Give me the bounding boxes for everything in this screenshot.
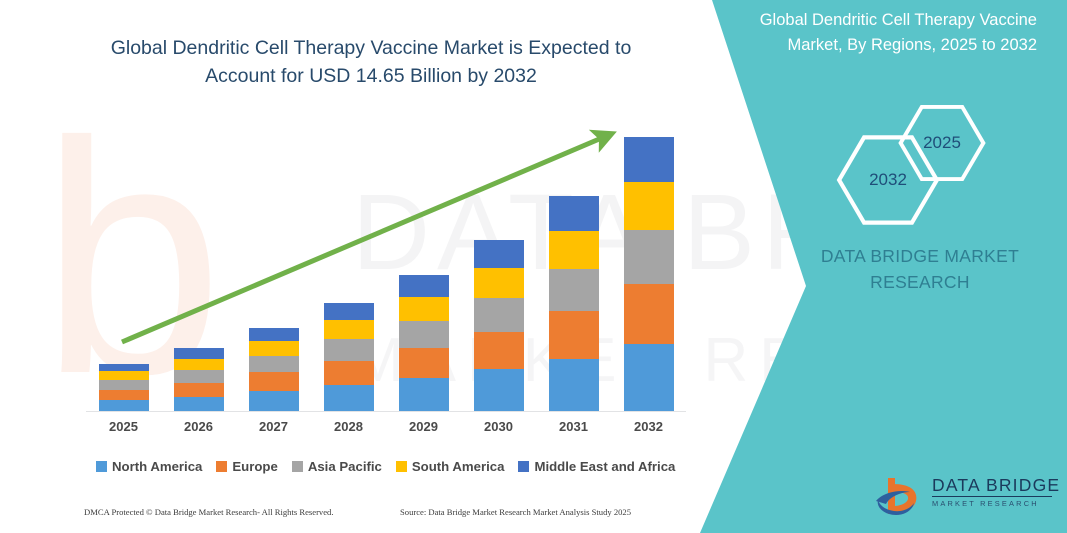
legend-label: North America (112, 459, 202, 474)
bar-segment-2028-north-america (324, 385, 374, 412)
bar-segment-2030-north-america (474, 369, 524, 412)
legend-swatch-icon (518, 461, 529, 472)
bar-segment-2028-south-america (324, 320, 374, 339)
x-axis-label-2030: 2030 (469, 419, 529, 434)
x-axis-label-2028: 2028 (319, 419, 379, 434)
bar-segment-2032-middle-east-and-africa (624, 137, 674, 182)
bar-group (86, 120, 686, 412)
bar-segment-2026-north-america (174, 397, 224, 412)
legend-item-middle-east-and-africa[interactable]: Middle East and Africa (518, 459, 675, 474)
bar-2025 (99, 364, 149, 412)
bar-segment-2027-middle-east-and-africa (249, 328, 299, 342)
bar-segment-2029-asia-pacific (399, 321, 449, 348)
bar-segment-2031-asia-pacific (549, 269, 599, 312)
legend-item-europe[interactable]: Europe (216, 459, 277, 474)
bar-segment-2029-middle-east-and-africa (399, 275, 449, 297)
bar-2031 (549, 196, 599, 412)
x-axis-label-2025: 2025 (94, 419, 154, 434)
x-axis-label-2029: 2029 (394, 419, 454, 434)
dbmr-logo-sub: MARKET RESEARCH (932, 499, 1052, 508)
bar-segment-2025-asia-pacific (99, 380, 149, 390)
bar-segment-2027-north-america (249, 391, 299, 412)
bar-segment-2029-north-america (399, 378, 449, 412)
x-axis-label-2027: 2027 (244, 419, 304, 434)
bar-chart-plot-area (86, 120, 686, 412)
legend-label: Middle East and Africa (534, 459, 675, 474)
legend-label: Asia Pacific (308, 459, 382, 474)
chart-legend: North AmericaEuropeAsia PacificSouth Ame… (96, 456, 676, 476)
x-axis-label-2026: 2026 (169, 419, 229, 434)
legend-item-south-america[interactable]: South America (396, 459, 505, 474)
panel-title: Global Dendritic Cell Therapy Vaccine Ma… (737, 8, 1037, 58)
page-title: Global Dendritic Cell Therapy Vaccine Ma… (88, 34, 654, 90)
bar-segment-2029-south-america (399, 297, 449, 321)
legend-swatch-icon (216, 461, 227, 472)
bar-segment-2030-south-america (474, 268, 524, 298)
bar-segment-2028-middle-east-and-africa (324, 303, 374, 320)
legend-swatch-icon (96, 461, 107, 472)
footer-copyright: DMCA Protected © Data Bridge Market Rese… (84, 507, 334, 517)
bar-segment-2026-south-america (174, 359, 224, 371)
bar-segment-2032-north-america (624, 344, 674, 412)
bar-segment-2032-asia-pacific (624, 230, 674, 284)
bar-segment-2032-south-america (624, 182, 674, 230)
legend-label: Europe (232, 459, 277, 474)
bar-segment-2025-europe (99, 390, 149, 401)
legend-swatch-icon (292, 461, 303, 472)
bar-segment-2026-europe (174, 383, 224, 397)
dbmr-logo-wordmark: DATA BRIDGE MARKET RESEARCH (932, 476, 1052, 508)
bar-2032 (624, 137, 674, 412)
dbmr-logo-main: DATA BRIDGE (932, 476, 1052, 497)
panel-brand-text: DATA BRIDGE MARKET RESEARCH (790, 243, 1050, 295)
bar-segment-2030-asia-pacific (474, 298, 524, 332)
x-axis-labels: 20252026202720282029203020312032 (86, 419, 686, 441)
bar-segment-2029-europe (399, 348, 449, 378)
legend-item-asia-pacific[interactable]: Asia Pacific (292, 459, 382, 474)
hexagon-badge-group: 2032 2025 (820, 104, 1020, 214)
bar-segment-2026-middle-east-and-africa (174, 348, 224, 359)
x-axis-label-2031: 2031 (544, 419, 604, 434)
bar-segment-2026-asia-pacific (174, 370, 224, 383)
legend-label: South America (412, 459, 505, 474)
bar-segment-2030-europe (474, 332, 524, 370)
hexagon-badge-2025-label: 2025 (898, 104, 986, 182)
bar-segment-2027-asia-pacific (249, 356, 299, 372)
bar-segment-2028-asia-pacific (324, 339, 374, 360)
footer-source: Source: Data Bridge Market Research Mark… (400, 507, 631, 517)
x-axis-label-2032: 2032 (619, 419, 679, 434)
bar-2028 (324, 303, 374, 412)
bar-segment-2031-middle-east-and-africa (549, 196, 599, 231)
legend-item-north-america[interactable]: North America (96, 459, 202, 474)
dbmr-logo-mark-icon (872, 474, 928, 518)
bar-segment-2025-middle-east-and-africa (99, 364, 149, 372)
hexagon-badge-2025: 2025 (898, 104, 986, 182)
bar-segment-2028-europe (324, 361, 374, 385)
bar-segment-2025-south-america (99, 371, 149, 380)
bar-segment-2032-europe (624, 284, 674, 344)
bar-segment-2031-north-america (549, 359, 599, 412)
bar-2030 (474, 240, 524, 412)
legend-swatch-icon (396, 461, 407, 472)
bar-segment-2027-south-america (249, 341, 299, 356)
dbmr-logo: DATA BRIDGE MARKET RESEARCH (872, 472, 1052, 520)
infographic-canvas: b DATA BRIDGE MARKET RESEARCH Global Den… (0, 0, 1067, 533)
bar-segment-2031-south-america (549, 231, 599, 269)
bar-2027 (249, 328, 299, 412)
bar-segment-2031-europe (549, 311, 599, 358)
bar-2029 (399, 275, 449, 412)
x-axis-line (86, 411, 686, 412)
bar-segment-2027-europe (249, 372, 299, 390)
bar-2026 (174, 348, 224, 412)
bar-segment-2030-middle-east-and-africa (474, 240, 524, 268)
